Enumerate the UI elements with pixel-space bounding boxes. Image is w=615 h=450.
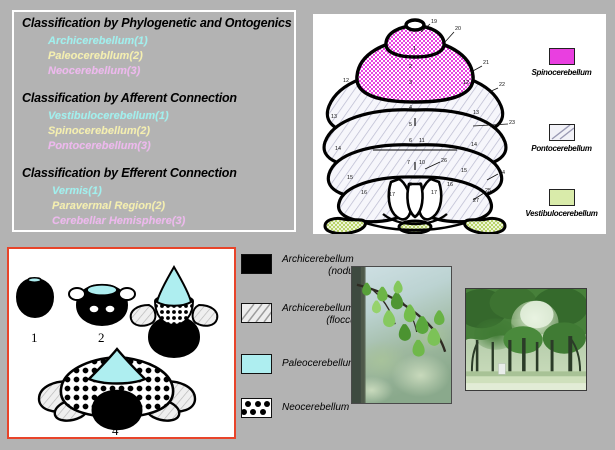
diagram-number-label: 7	[407, 160, 410, 166]
classification-item: Neocerebellum(3)	[48, 64, 294, 79]
classification-item: Cerebellar Hemisphere(3)	[52, 214, 294, 229]
legend-swatch-spinocerebellum	[549, 48, 575, 65]
legend-swatch-paleocerebellum	[241, 354, 272, 374]
tree-grove-photo	[465, 288, 587, 391]
classification-panel: Classification by Phylogenetic and Ontog…	[12, 10, 296, 232]
group-heading: Classification by Efferent Connection	[22, 166, 294, 180]
diagram-number-label: 23	[509, 120, 515, 126]
classification-item: Pontocerebellum(3)	[48, 139, 294, 154]
legend-label: Pontocerebellum	[517, 144, 606, 153]
classification-group-efferent: Classification by Efferent Connection Ve…	[14, 166, 294, 229]
cerebellum-diagram-panel: 19 20 21 22 23 24 25 26 27 12 12 13 13 1…	[313, 14, 606, 234]
stage-number-3: 3	[170, 330, 177, 345]
diagram-number-label: 2	[409, 64, 412, 70]
diagram-number-label: 17	[431, 190, 437, 196]
cerebellum-anatomy-figure: 19 20 21 22 23 24 25 26 27 12 12 13 13 1…	[313, 14, 518, 234]
cerebellum-legend: Spinocerebellum Pontocerebellum Vestibul…	[517, 14, 606, 234]
diagram-number-label: 11	[419, 138, 425, 144]
diagram-number-label: 17	[389, 192, 395, 198]
group-heading: Classification by Afferent Connection	[22, 91, 294, 105]
diagram-number-label: 8	[409, 182, 412, 188]
diagram-number-label: 21	[483, 60, 489, 66]
legend-swatch-vestibulocerebellum	[549, 189, 575, 206]
evolution-stage-2	[69, 285, 135, 325]
legend-label: Paleocerebellum	[282, 358, 357, 369]
diagram-number-label: 26	[441, 158, 447, 164]
stage-number-1: 1	[31, 330, 38, 345]
legend-swatch-archicerebellum-flocculus	[241, 303, 272, 323]
diagram-number-label: 1	[413, 46, 416, 52]
slide-canvas: Classification by Phylogenetic and Ontog…	[0, 0, 615, 450]
classification-item: Spinocerebellum(2)	[48, 124, 294, 139]
legend-swatch-neocerebellum	[241, 398, 272, 418]
diagram-number-label: 14	[335, 146, 341, 152]
legend-entry-pontocerebellum: Pontocerebellum	[517, 124, 606, 153]
diagram-number-label: 9	[419, 182, 422, 188]
group-heading: Classification by Phylogenetic and Ontog…	[22, 16, 294, 30]
stage-number-2: 2	[98, 330, 105, 345]
evolution-stages-figure: 1 2 3 4	[9, 249, 234, 437]
diagram-number-label: 16	[447, 182, 453, 188]
diagram-number-label: 19	[431, 19, 437, 25]
diagram-number-label: 15	[461, 168, 467, 174]
legend-swatch-pontocerebellum	[549, 124, 575, 141]
diagram-number-label: 5	[409, 122, 412, 128]
diagram-number-label: 6	[409, 138, 412, 144]
legend-label: Archicerebellum	[282, 254, 354, 265]
diagram-number-label: 25	[485, 188, 491, 194]
stage-number-4: 4	[112, 423, 119, 437]
classification-item: Vestibulocerebellum(1)	[48, 109, 294, 124]
diagram-number-label: 15	[347, 175, 353, 181]
legend-label: Spinocerebellum	[517, 68, 606, 77]
diagram-number-label: 3	[409, 80, 412, 86]
cerebellum-evolution-panel: 1 2 3 4	[7, 247, 236, 439]
classification-item: Archicerebellum(1)	[48, 34, 294, 49]
classification-item: Vermis(1)	[52, 184, 294, 199]
diagram-number-label: 14	[471, 142, 477, 148]
legend-swatch-archicerebellum-nodulus	[241, 254, 272, 274]
diagram-number-label: 24	[499, 170, 505, 176]
legend-label: Archicerebellum	[282, 303, 354, 314]
diagram-number-label: 10	[419, 160, 425, 166]
diagram-number-label: 12	[463, 80, 469, 86]
diagram-number-label: 13	[473, 110, 479, 116]
legend-entry-spinocerebellum: Spinocerebellum	[517, 48, 606, 77]
evolution-stage-1	[17, 278, 53, 317]
diagram-number-label: 22	[499, 82, 505, 88]
legend-label: Neocerebellum	[282, 402, 349, 413]
ginkgo-branch-photo	[351, 266, 452, 404]
diagram-number-label: 4	[409, 105, 412, 111]
evolution-stage-4	[39, 349, 195, 429]
classification-item: Paleocerebllum(2)	[48, 49, 294, 64]
classification-item: Paravermal Region(2)	[52, 199, 294, 214]
legend-entry-vestibulocerebellum: Vestibulocerebellum	[517, 189, 606, 218]
diagram-number-label: 12	[343, 78, 349, 84]
classification-group-phylogenetic: Classification by Phylogenetic and Ontog…	[14, 16, 294, 79]
legend-label: Vestibulocerebellum	[517, 209, 606, 218]
classification-group-afferent: Classification by Afferent Connection Ve…	[14, 91, 294, 154]
diagram-number-label: 27	[473, 198, 479, 204]
diagram-number-label: 20	[455, 26, 461, 32]
diagram-number-label: 16	[361, 190, 367, 196]
diagram-number-label: 13	[331, 114, 337, 120]
